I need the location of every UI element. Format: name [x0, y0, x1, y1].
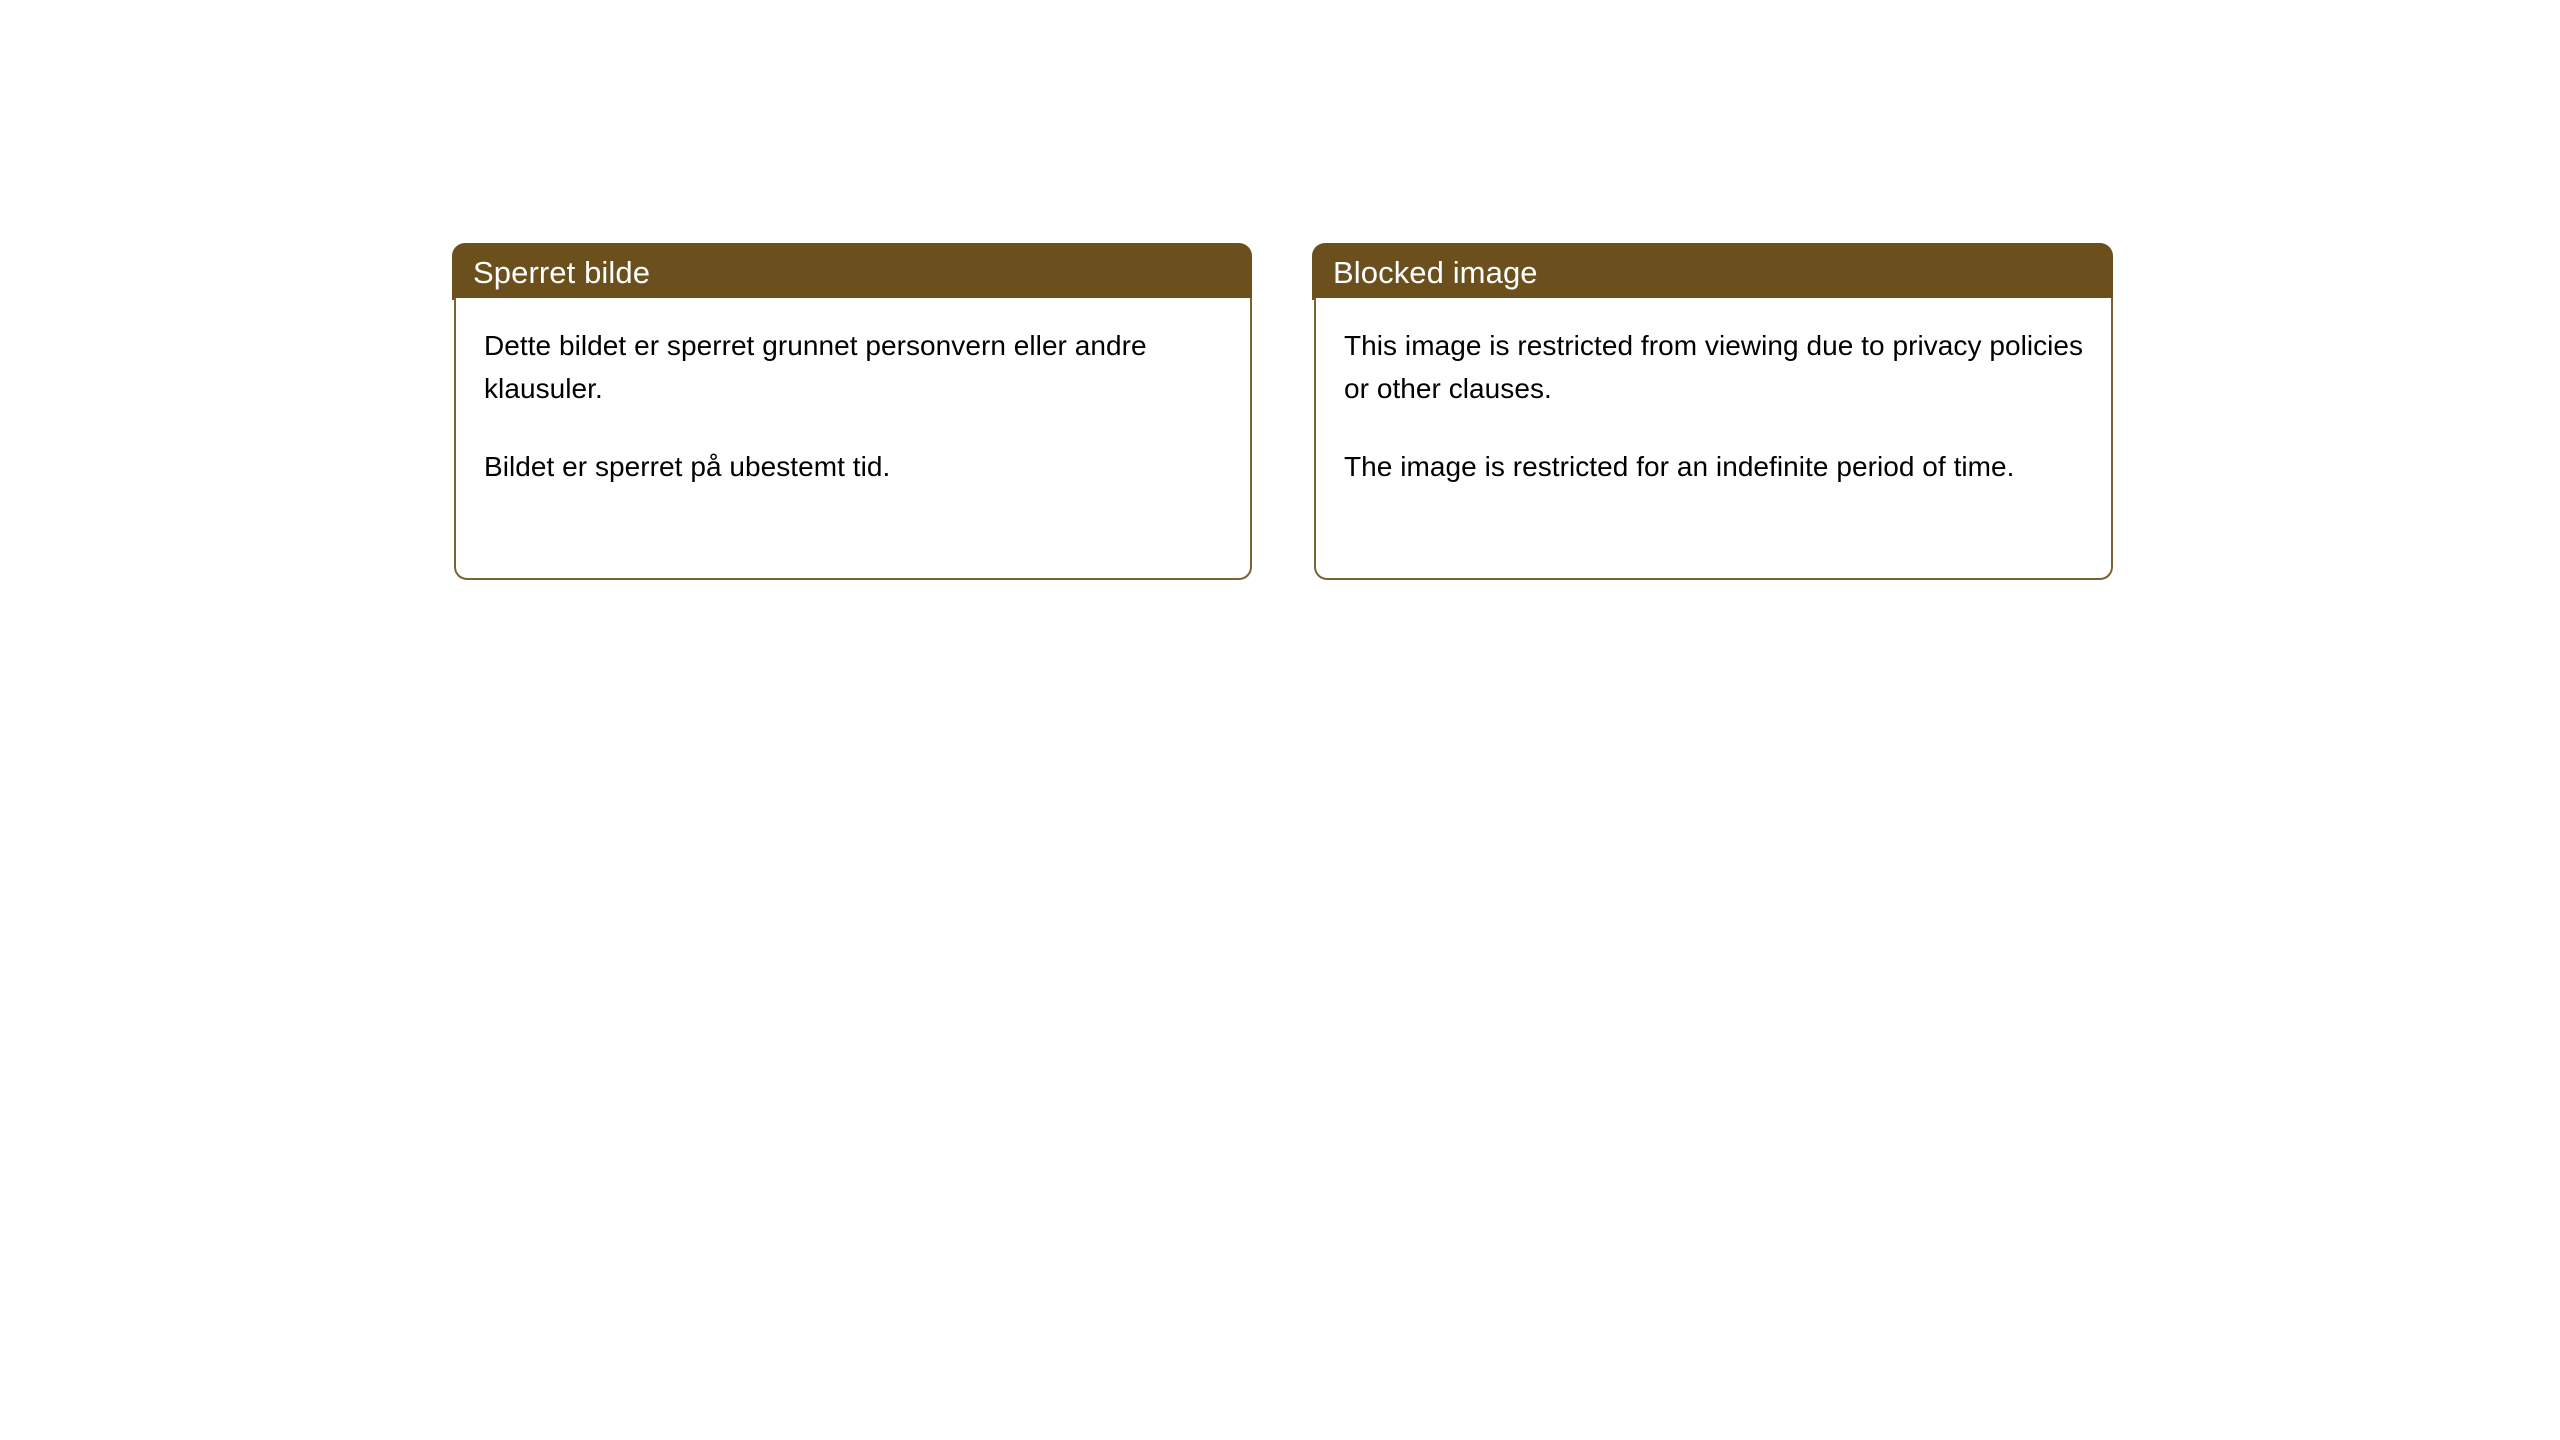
- card-header-english: Blocked image: [1312, 243, 2113, 300]
- card-paragraph-reason-norwegian: Dette bildet er sperret grunnet personve…: [484, 324, 1226, 410]
- card-title-english: Blocked image: [1333, 256, 1538, 290]
- card-title-norwegian: Sperret bilde: [473, 256, 650, 290]
- card-paragraph-duration-norwegian: Bildet er sperret på ubestemt tid.: [484, 445, 1226, 488]
- card-body-norwegian: Dette bildet er sperret grunnet personve…: [454, 298, 1252, 580]
- blocked-image-notice-card-english: Blocked image This image is restricted f…: [1312, 243, 2113, 580]
- card-header-norwegian: Sperret bilde: [452, 243, 1252, 300]
- card-paragraph-reason-english: This image is restricted from viewing du…: [1344, 324, 2087, 410]
- card-body-english: This image is restricted from viewing du…: [1314, 298, 2113, 580]
- page-canvas: Sperret bilde Dette bildet er sperret gr…: [0, 0, 2560, 1440]
- card-paragraph-duration-english: The image is restricted for an indefinit…: [1344, 445, 2087, 488]
- blocked-image-notice-card-norwegian: Sperret bilde Dette bildet er sperret gr…: [452, 243, 1252, 580]
